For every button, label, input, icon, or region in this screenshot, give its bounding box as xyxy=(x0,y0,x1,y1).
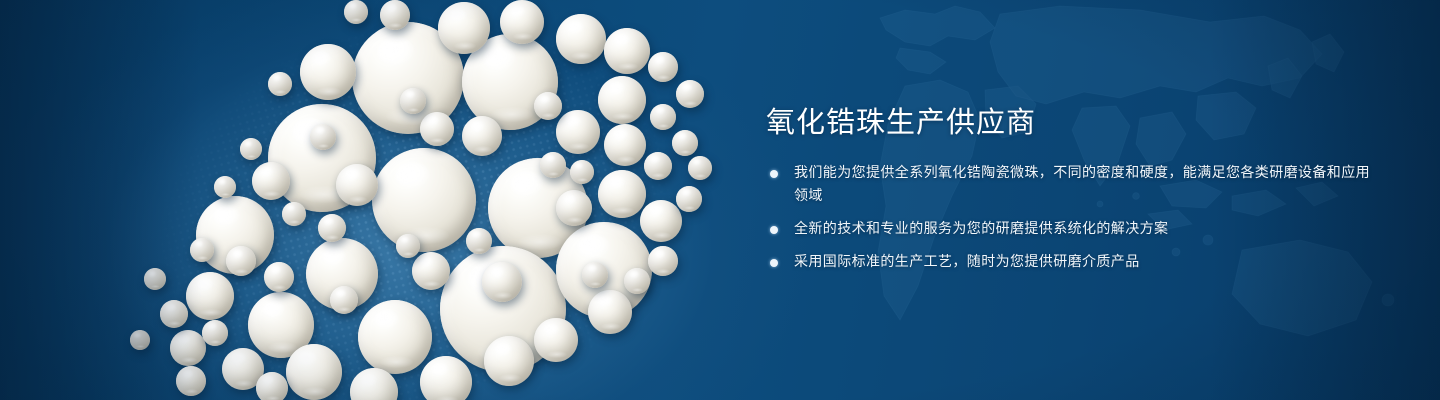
list-item: 全新的技术和专业的服务为您的研磨提供系统化的解决方案 xyxy=(764,218,1384,241)
list-item: 采用国际标准的生产工艺，随时为您提供研磨介质产品 xyxy=(764,251,1384,274)
hero-banner: 氧化锆珠生产供应商 我们能为您提供全系列氧化锆陶瓷微珠，不同的密度和硬度，能满足… xyxy=(0,0,1440,400)
list-item-text: 采用国际标准的生产工艺，随时为您提供研磨介质产品 xyxy=(794,254,1140,270)
banner-copy: 氧化锆珠生产供应商 我们能为您提供全系列氧化锆陶瓷微珠，不同的密度和硬度，能满足… xyxy=(764,104,1384,274)
bullet-dot-icon xyxy=(770,170,778,178)
list-item-text: 我们能为您提供全系列氧化锆陶瓷微珠，不同的密度和硬度，能满足您各类研磨设备和应用… xyxy=(794,165,1370,204)
bullet-dot-icon xyxy=(770,226,778,234)
list-item: 我们能为您提供全系列氧化锆陶瓷微珠，不同的密度和硬度，能满足您各类研磨设备和应用… xyxy=(764,162,1384,208)
list-item-text: 全新的技术和专业的服务为您的研磨提供系统化的解决方案 xyxy=(794,221,1168,237)
page-title: 氧化锆珠生产供应商 xyxy=(766,104,1384,140)
bullet-dot-icon xyxy=(770,259,778,267)
feature-list: 我们能为您提供全系列氧化锆陶瓷微珠，不同的密度和硬度，能满足您各类研磨设备和应用… xyxy=(764,162,1384,274)
